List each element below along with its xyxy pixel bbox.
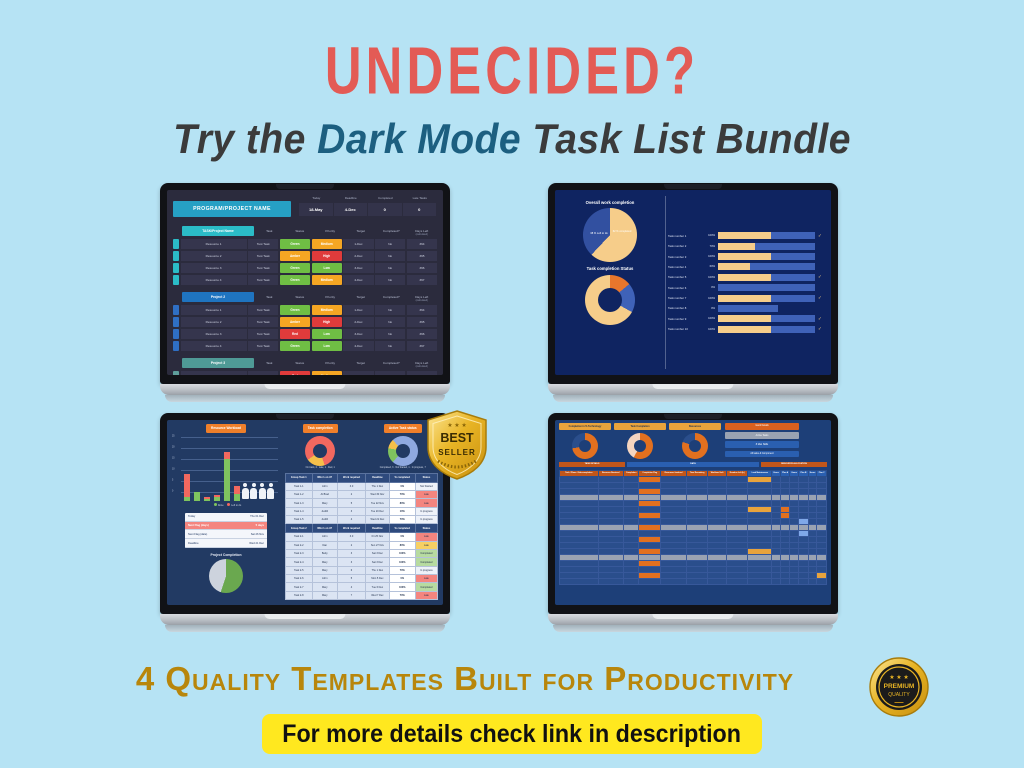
cell-task: Test Task [248, 263, 278, 273]
priority-badge: High [312, 317, 342, 327]
column-header: Priority [315, 226, 346, 233]
action-button[interactable]: Active Tasks [725, 432, 799, 439]
table-row[interactable]: Task 2-7 Mary 4 Tue 6 Dec 100% Completed [286, 583, 438, 591]
cell-who: Al Brad [312, 490, 337, 498]
section-header: TASK DETAILS [559, 462, 625, 467]
status-badge: Green [280, 263, 310, 273]
table-row[interactable]: Task 2-1 John 3.0 Fri 25 Nov 0% Late [286, 533, 438, 541]
task-percent: 100% [705, 276, 715, 279]
cell-days-left: 366 [407, 263, 437, 273]
column-header: Work required [337, 473, 365, 482]
kpi-strip: Today 18-May Deadline 4-Dec Completed 0 … [299, 196, 437, 216]
task-percent: 70% [705, 245, 715, 248]
cell-resource: Resource 1 [181, 239, 247, 249]
cell-deadline: Fri 25 Nov [366, 533, 390, 541]
donut-label: Late, 1 [319, 467, 326, 469]
y-tick: 15 [172, 457, 175, 459]
info-row: Deadline Wed 21 Dec [185, 539, 267, 548]
check-icon: ✓ [818, 234, 824, 238]
cell-days-left: 365 [407, 251, 437, 261]
table-row[interactable]: Resource 2 Test Task Amber High 2-Dec No… [173, 251, 437, 261]
stacked-bars [184, 445, 240, 501]
kpi-card: Resources [669, 423, 721, 459]
table-group-header: Project 3 TaskStatusPriorityTargetComple… [173, 358, 437, 368]
cta-banner[interactable]: For more details check link in descripti… [262, 714, 762, 754]
pie-label-completed: 62 % completed [612, 230, 632, 233]
row-color-tag [173, 275, 179, 285]
card-label: Resources [669, 423, 721, 430]
cell-percent: 70% [389, 566, 415, 574]
mini-bar-chart [803, 423, 827, 457]
status-cell: Late [415, 533, 437, 541]
cell-task: Task 1-4 [286, 507, 313, 515]
cell-deadline: Wed 21 Dec [366, 516, 390, 524]
status-badge: Green [280, 275, 310, 285]
column-header: Priority [315, 358, 346, 365]
group-name: Project 3 [182, 358, 254, 368]
table-cell [623, 579, 639, 585]
table-row[interactable]: Task 1-2 Al Brad 2 Wed 30 Nov 70% Late [286, 490, 438, 498]
cell-resource: Resource 2 [181, 317, 247, 327]
svg-text:★ ★ ★: ★ ★ ★ [447, 422, 466, 429]
cell-resource: Resource 1 [181, 305, 247, 315]
column-header: Target [346, 226, 377, 233]
cell-completed: No [375, 317, 405, 327]
cell-target: 1-Dec [343, 239, 373, 249]
kpi-card: Task Completion [614, 423, 666, 459]
y-tick: 25 [172, 435, 175, 437]
page-headline: UNDECIDED? [92, 33, 932, 110]
kpi-label: Deadline [334, 196, 369, 203]
y-tick: 20 [172, 446, 175, 448]
cell-days-left: 364 [407, 239, 437, 249]
table-group-header: Project 2 TaskStatusPriorityTargetComple… [173, 292, 437, 302]
premium-quality-badge: ★ ★ ★ PREMIUM QUALITY ▬▬▬ [868, 656, 930, 718]
person-icon [259, 483, 266, 499]
row-color-tag [173, 239, 179, 249]
cell-days-left: 366 [407, 329, 437, 339]
table-row[interactable]: Resource 3 Test Task Red Low 3-Dec No 36… [173, 329, 437, 339]
action-buttons[interactable]: Gantt DetailsActive Tasks8 Man SkillsAll… [725, 423, 799, 460]
cell-percent: 70% [389, 490, 415, 498]
status-cell: Late [415, 575, 437, 583]
task-bar-track [718, 243, 815, 250]
cell-completed: No [375, 305, 405, 315]
cell-target: 1-Dec [343, 305, 373, 315]
cell-who: Mary [312, 499, 337, 507]
cell-completed: No [375, 341, 405, 351]
column-header: Completed? [376, 292, 407, 299]
cell-percent: 100% [389, 549, 415, 557]
task-bar-row: Task number 10 100% ✓ [668, 326, 824, 333]
people-icons [242, 483, 275, 499]
column-header: Task [254, 358, 285, 365]
task-percent: 100% [705, 317, 715, 320]
table-row[interactable]: Resource 1 Test Task Green Medium 1-Dec … [173, 305, 437, 315]
table-cell [708, 579, 727, 585]
pie-label-remaining: 38 % Left to do [589, 232, 609, 235]
task-label: Task number 6 [668, 286, 702, 290]
cell-work: 5 [337, 499, 365, 507]
status-cell: Completed [415, 549, 437, 557]
cell-work: 7 [337, 591, 365, 599]
cell-who: Judith [312, 507, 337, 515]
cell-task: Task 2-5 [286, 566, 313, 574]
table-row[interactable]: Task 1-5 Judith 4 Wed 21 Dec 70% In prog… [286, 516, 438, 524]
column-header: Priority [315, 292, 346, 299]
table-cell [598, 579, 623, 585]
column-header: Work required [337, 524, 365, 533]
laptop-base [548, 614, 838, 625]
cell-resource: Resource 4 [181, 341, 247, 351]
info-row: Today Thu 01 Dec [185, 513, 267, 522]
cell-task: Test Task [248, 275, 278, 285]
cell-resource: Resource 2 [181, 251, 247, 261]
cell-percent: 70% [389, 591, 415, 599]
laptop-lid: Overall work completion 62 % completed 3… [548, 183, 838, 384]
cell-deadline: Tue 20 Dec [366, 507, 390, 515]
cell-days-left: 367 [407, 341, 437, 351]
tracker-right-column: Task completion On track, 2 · Late, 1 · … [285, 424, 438, 601]
status-badge: Green [280, 305, 310, 315]
column-header: Who's on it? [312, 473, 337, 482]
cell-work: 3 [337, 549, 365, 557]
status-badge: Amber [280, 251, 310, 261]
cell-deadline: Tue 22 Nov [366, 499, 390, 507]
table-cell [790, 579, 799, 585]
column-header: Target [346, 292, 377, 299]
cell-task: Test Task [248, 305, 278, 315]
action-button[interactable]: Gantt Details [725, 423, 799, 430]
table-row[interactable]: Task 2-3 Betty 3 Sat 3 Dec 100% Complete… [286, 549, 438, 557]
laptop-task-list: PROGRAM/PROJECT NAME Today 18-May Deadli… [160, 183, 450, 402]
footer-tagline: 4 Quality Templates Built for Productivi… [60, 660, 870, 698]
y-tick: 10 [172, 468, 175, 470]
cell-task: Task 2-8 [286, 591, 313, 599]
subhead-part3: Task List Bundle [521, 115, 851, 162]
table-row[interactable]: Task 2-8 Mary 7 Wed 7 Dec 70% Late [286, 591, 438, 599]
table-row[interactable]: Task 2-5 Mary 6 Thu 1 Dec 70% In progres… [286, 566, 438, 574]
card-ring-chart [682, 433, 708, 459]
task-bar-track [718, 253, 815, 260]
row-color-tag [173, 341, 179, 351]
info-label: Deadline [185, 539, 226, 547]
status-cell: Late [415, 490, 437, 498]
cell-days-left: 364 [407, 371, 437, 375]
cell-days-left: 365 [407, 317, 437, 327]
task-bar-track [718, 315, 815, 322]
group-task-table[interactable]: Group Task 1Who's on it?Work requiredDea… [285, 473, 438, 600]
section-header: DATA [627, 462, 759, 467]
cell-target: 3-Dec [343, 263, 373, 273]
table-row[interactable]: Resource 3 Test Task Green Low 3-Dec No … [173, 263, 437, 273]
cell-target: 3-Dec [343, 329, 373, 339]
cell-who: Dan [312, 541, 337, 549]
cell-percent: 100% [389, 558, 415, 566]
donut-chart-title: Task completion Status [562, 266, 658, 271]
status-cell: In progress [415, 566, 437, 574]
task-bars-column: Task number 1 100% ✓ Task number 2 70% T… [665, 196, 824, 369]
task-label: Task number 3 [668, 255, 702, 259]
task-bar-track [718, 305, 815, 312]
webcam-notch [664, 414, 722, 419]
table-row[interactable]: Resource 2 Test Task Amber High 2-Dec No… [173, 317, 437, 327]
cell-who: Mary [312, 558, 337, 566]
group-name: Group Task 1 [286, 473, 313, 482]
card-label: Completion in % Technology [559, 423, 611, 430]
cell-deadline: Thu 1 Dec [366, 566, 390, 574]
row-color-tag [173, 317, 179, 327]
best-seller-badge: ★ ★ ★ BEST SELLER [424, 409, 490, 481]
cell-target: 1-Dec [343, 371, 373, 375]
kpi-value: 4-Dec [334, 203, 369, 216]
cta-text: For more details check link in descripti… [283, 720, 742, 749]
priority-badge: Medium [312, 239, 342, 249]
task-label: Task number 8 [668, 306, 702, 310]
person-icon [250, 483, 257, 499]
cell-percent: 100% [389, 583, 415, 591]
active-task-status-title: Active Task status [384, 424, 422, 433]
info-label: Next Flag (days) [185, 522, 226, 530]
table-cell [808, 579, 817, 585]
table-row[interactable]: Resource 4 Test Task Green Low 4-Dec No … [173, 341, 437, 351]
cell-deadline: Mon 5 Dec [366, 575, 390, 583]
column-header: Task [254, 292, 285, 299]
kpi-card: Late Tasks 0 [403, 196, 438, 216]
bar-column [234, 486, 240, 501]
laptop-gantt-dashboard: Completion in % Technology Task Completi… [548, 413, 838, 632]
status-cell: Late [415, 541, 437, 549]
bar-column [224, 452, 230, 500]
cell-completed: No [375, 275, 405, 285]
info-value: 5 days [226, 522, 267, 530]
check-icon: ✓ [818, 317, 824, 321]
status-cell: Late [415, 499, 437, 507]
table-cell [772, 579, 781, 585]
task-label: Task number 7 [668, 296, 702, 300]
kpi-value: 18-May [299, 203, 334, 216]
table-row[interactable]: Resource 1 Test Task Red Medium 1-Dec No… [173, 371, 437, 375]
group-name: Group Task 2 [286, 524, 313, 533]
program-title: PROGRAM/PROJECT NAME [173, 201, 291, 217]
cell-task: Task 2-1 [286, 533, 313, 541]
column-header: Target [346, 358, 377, 365]
cell-completed: No [375, 329, 405, 339]
table-cell [781, 579, 790, 585]
action-button[interactable]: All tasks & Component [725, 451, 799, 458]
column-header: Task [254, 226, 285, 233]
cell-deadline: Wed 7 Dec [366, 591, 390, 599]
cell-deadline: Wed 30 Nov [366, 490, 390, 498]
laptop-lid: PROGRAM/PROJECT NAME Today 18-May Deadli… [160, 183, 450, 384]
kpi-card: Completed 0 [368, 196, 403, 216]
kpi-card: Today 18-May [299, 196, 334, 216]
task-completion-donut [305, 436, 335, 466]
task-bar-row: Task number 6 0% [668, 284, 824, 291]
group-name: TASK/Project Name [182, 226, 254, 236]
overall-completion-pie: 62 % completed 38 % Left to do [583, 208, 637, 262]
table-row[interactable]: Task 1-4 Judith 3 Tue 20 Dec 10% In prog… [286, 507, 438, 515]
task-table[interactable]: TASK/Project Name TaskStatusPriorityTarg… [173, 226, 437, 375]
column-header: Status [285, 292, 316, 299]
donut-label: Completed, 3 [380, 467, 394, 469]
task-completion-title: Task completion [303, 424, 338, 433]
cell-completed: No [375, 371, 405, 375]
screen-task-list: PROGRAM/PROJECT NAME Today 18-May Deadli… [167, 190, 443, 375]
info-value: Sat 26 Nov [226, 530, 267, 538]
row-color-tag [173, 305, 179, 315]
cell-task: Test Task [248, 251, 278, 261]
best-seller-line2: SELLER [438, 448, 476, 457]
action-button[interactable]: 8 Man Skills [725, 441, 799, 448]
info-label: Today [185, 513, 226, 521]
table-row[interactable]: Task 2-6 John 5 Mon 5 Dec 0% Late [286, 575, 438, 583]
best-seller-line1: BEST [440, 431, 474, 445]
priority-badge: Medium [312, 275, 342, 285]
info-row: Next Flag (date) Sat 26 Nov [185, 530, 267, 539]
laptop-base [160, 614, 450, 625]
cell-percent: 0% [389, 482, 415, 490]
table-row[interactable]: Resource 1 Test Task Green Medium 1-Dec … [173, 239, 437, 249]
kpi-card: Completion in % Technology [559, 423, 611, 459]
task-percent: 60% [705, 265, 715, 268]
laptop-lid: Resource Workload 2520151050 Done Left t… [160, 413, 450, 614]
row-color-tag [173, 263, 179, 273]
row-color-tag [173, 251, 179, 261]
table-row[interactable]: Task 2-2 Dan 2 Sun 27 Nov 80% Late [286, 541, 438, 549]
column-header: Status [285, 226, 316, 233]
cell-resource: Resource 1 [181, 371, 247, 375]
card-ring-chart [572, 433, 598, 459]
legend-done: Done [218, 504, 224, 507]
column-header: % completed [389, 473, 415, 482]
check-icon: ✓ [818, 327, 824, 331]
task-bar-row: Task number 7 100% ✓ [668, 295, 824, 302]
task-bar-row: Task number 5 100% ✓ [668, 274, 824, 281]
table-row[interactable]: Task 2-4 Mary 3 Sat 3 Dec 100% Completed [286, 558, 438, 566]
kpi-label: Completed [368, 196, 403, 203]
cell-percent: 70% [389, 516, 415, 524]
task-percent: 100% [705, 255, 715, 258]
pie-chart-title: Overall work completion [562, 200, 658, 205]
y-tick: 5 [172, 479, 173, 481]
table-row[interactable] [560, 579, 827, 585]
column-header: Status [415, 524, 437, 533]
cell-task: Task 2-2 [286, 541, 313, 549]
table-row[interactable]: Resource 4 Test Task Green Medium 4-Dec … [173, 275, 437, 285]
info-value: Thu 01 Dec [226, 513, 267, 521]
laptop-foot [165, 395, 445, 402]
svg-text:▬▬▬: ▬▬▬ [895, 700, 904, 704]
cell-target: 4-Dec [343, 275, 373, 285]
cell-percent: 80% [389, 541, 415, 549]
cell-task: Test Task [248, 329, 278, 339]
cell-work: 2 [337, 541, 365, 549]
group-header-row: Group Task 1Who's on it?Work requiredDea… [286, 473, 438, 482]
webcam-notch [276, 414, 334, 419]
kpi-value: 0 [403, 203, 438, 216]
task-percent: 0% [705, 307, 715, 310]
table-group-header: TASK/Project Name TaskStatusPriorityTarg… [173, 226, 437, 236]
table-cell [639, 579, 661, 585]
cell-work: 3 [337, 507, 365, 515]
cell-completed: No [375, 239, 405, 249]
table-cell [748, 579, 772, 585]
project-completion-pie [209, 559, 243, 593]
table-cell [817, 579, 827, 585]
y-tick: 0 [172, 490, 173, 492]
column-header: % completed [389, 524, 415, 533]
status-badge: Amber [280, 317, 310, 327]
column-header: Completed? [376, 226, 407, 233]
cell-days-left: 364 [407, 305, 437, 315]
cell-work: 3.0 [337, 533, 365, 541]
status-badge: Red [280, 329, 310, 339]
donut-label: Not Started, 1 [395, 467, 409, 469]
priority-badge: Medium [312, 371, 342, 375]
info-value: Wed 21 Dec [226, 539, 267, 547]
cell-who: John [312, 482, 337, 490]
laptop-foot [165, 625, 445, 632]
table-cell [560, 579, 599, 585]
cell-deadline: Thu 1 Dec [366, 482, 390, 490]
kpi-cards: Completion in % Technology Task Completi… [559, 423, 721, 459]
column-header: Deadline [366, 473, 390, 482]
cell-deadline: Sun 27 Nov [366, 541, 390, 549]
laptop-lid: Completion in % Technology Task Completi… [548, 413, 838, 614]
cell-task: Task 2-3 [286, 549, 313, 557]
gantt-table[interactable]: Task / Phase / Sub-completionResource Re… [559, 470, 827, 585]
cell-task: Test Task [248, 341, 278, 351]
status-cell: Not Started [415, 482, 437, 490]
status-cell: Completed [415, 558, 437, 566]
cell-target: 2-Dec [343, 317, 373, 327]
priority-badge: Low [312, 263, 342, 273]
cell-percent: 80% [389, 499, 415, 507]
donut-label: On track, 2 [306, 467, 317, 469]
status-badge: Red [280, 371, 310, 375]
table-row[interactable]: Task 1-1 John 3.0 Thu 1 Dec 0% Not Start… [286, 482, 438, 490]
status-cell: In progress [415, 507, 437, 515]
bar-column [194, 492, 200, 500]
cell-task: Task 1-5 [286, 516, 313, 524]
cell-who: Mary [312, 583, 337, 591]
priority-badge: High [312, 251, 342, 261]
cell-deadline: Sat 3 Dec [366, 549, 390, 557]
task-bar-row: Task number 8 0% [668, 305, 824, 312]
tracker-left-column: Resource Workload 2520151050 Done Left t… [172, 424, 280, 601]
task-label: Task number 1 [668, 234, 702, 238]
column-header: Completed? [376, 358, 407, 365]
kpi-label: Late Tasks [403, 196, 438, 203]
priority-badge: Medium [312, 305, 342, 315]
check-icon: ✓ [818, 296, 824, 300]
cell-completed: No [375, 263, 405, 273]
column-header: Days Left(calculated) [407, 292, 438, 302]
legend-left: Left to do [231, 504, 241, 507]
card-label: Task Completion [614, 423, 666, 430]
table-cell [799, 579, 808, 585]
bar-column [204, 497, 210, 501]
task-label: Task number 4 [668, 265, 702, 269]
cell-percent: 10% [389, 507, 415, 515]
subhead-part2: Dark Mode [317, 115, 521, 162]
subhead-part1: Try the [173, 115, 317, 162]
cell-completed: No [375, 251, 405, 261]
premium-line2: QUALITY [888, 692, 910, 698]
table-row[interactable]: Task 1-3 Mary 5 Tue 22 Nov 80% Late [286, 499, 438, 507]
cell-deadline: Sat 3 Dec [366, 558, 390, 566]
